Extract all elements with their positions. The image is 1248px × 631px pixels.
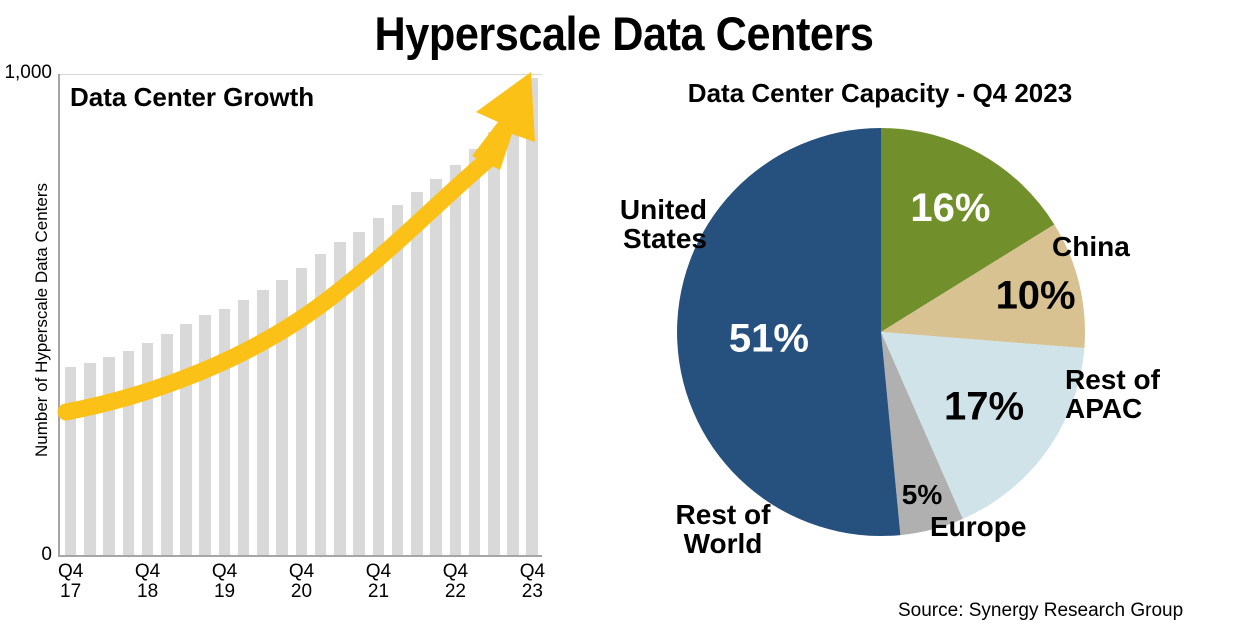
pie-label-rest-of-apac-line2: APAC [1065, 393, 1142, 424]
pie-value-rest-of-world: 5% [902, 479, 943, 510]
pie-label-united-states: United States [567, 195, 707, 254]
x-axis-label-quarter: Q4 [420, 562, 490, 582]
bar [488, 132, 500, 555]
x-axis-label-year: 20 [267, 582, 337, 602]
x-axis-label: Q417 [36, 562, 106, 602]
y-axis-title: Number of Hyperscale Data Centers [32, 110, 52, 530]
pie-label-rest-of-world-line1: Rest of [676, 499, 771, 530]
x-axis-label-quarter: Q4 [497, 562, 567, 582]
pie-label-rest-of-apac-line1: Rest of [1065, 364, 1160, 395]
bar [469, 149, 481, 555]
x-axis-label: Q423 [497, 562, 567, 602]
pie-label-rest-of-apac: Rest of APAC [1065, 365, 1160, 424]
bar [142, 343, 154, 555]
bar [199, 315, 211, 556]
bar-slot [388, 74, 407, 555]
bar-slot [119, 74, 138, 555]
bar-slot [426, 74, 445, 555]
pie-value-united-states: 51% [729, 316, 809, 360]
bar-series [61, 74, 542, 555]
bar [411, 192, 423, 555]
bar-slot [407, 74, 426, 555]
x-axis-label-year: 17 [36, 582, 106, 602]
pie-value-europe: 17% [944, 384, 1024, 428]
pie-label-europe: Europe [930, 512, 1026, 541]
pie-label-united-states-line2: States [623, 223, 707, 254]
bar-slot [61, 74, 80, 555]
x-axis-line [58, 555, 542, 557]
growth-chart-subtitle: Data Center Growth [70, 82, 314, 113]
bar-slot [196, 74, 215, 555]
x-axis-label-year: 22 [420, 582, 490, 602]
bar [276, 280, 288, 555]
x-axis-label-quarter: Q4 [113, 562, 183, 582]
x-axis-label-quarter: Q4 [190, 562, 260, 582]
bar-slot [215, 74, 234, 555]
bar [180, 324, 192, 555]
bar-slot [369, 74, 388, 555]
bar [450, 165, 462, 555]
x-axis-label-quarter: Q4 [343, 562, 413, 582]
bar-slot [503, 74, 522, 555]
pie-label-china: China [1052, 232, 1130, 261]
bar-slot [138, 74, 157, 555]
bar [257, 290, 269, 555]
page-title: Hyperscale Data Centers [50, 6, 1198, 61]
bar [123, 351, 135, 555]
bar [353, 232, 365, 555]
bar [334, 242, 346, 555]
bar [296, 268, 308, 555]
y-axis-tick-top: 1,000 [4, 62, 52, 84]
bar-slot [311, 74, 330, 555]
bar [526, 78, 538, 555]
bar [392, 205, 404, 555]
bar-slot [446, 74, 465, 555]
x-axis-label: Q418 [113, 562, 183, 602]
bar [103, 357, 115, 555]
growth-chart-panel: 1,000 0 Number of Hyperscale Data Center… [0, 60, 600, 631]
bar [373, 218, 385, 555]
bar-slot [273, 74, 292, 555]
bar [161, 334, 173, 555]
x-axis-label-quarter: Q4 [36, 562, 106, 582]
x-axis-label: Q419 [190, 562, 260, 602]
pie-label-united-states-line1: United [620, 194, 707, 225]
bar-slot [465, 74, 484, 555]
bar-slot [80, 74, 99, 555]
growth-plot-area [58, 74, 542, 556]
bar-slot [234, 74, 253, 555]
bar [84, 363, 96, 555]
x-axis-label-quarter: Q4 [267, 562, 337, 582]
x-axis-label: Q421 [343, 562, 413, 602]
x-axis-label: Q420 [267, 562, 337, 602]
x-axis-label-year: 21 [343, 582, 413, 602]
bar [315, 254, 327, 555]
x-axis-label-year: 23 [497, 582, 567, 602]
bar-slot [523, 74, 542, 555]
source-note: Source: Synergy Research Group [898, 600, 1183, 622]
bar-slot [484, 74, 503, 555]
x-axis-labels: Q417Q418Q419Q420Q421Q422Q423 [58, 562, 542, 618]
infographic-page: Hyperscale Data Centers 1,000 0 Number o… [0, 0, 1248, 631]
pie-value-china: 16% [910, 186, 990, 230]
bar-slot [99, 74, 118, 555]
bar [219, 309, 231, 555]
bar [430, 179, 442, 555]
pie-label-rest-of-world-line2: World [684, 528, 763, 559]
bar [507, 110, 519, 555]
pie-label-rest-of-world: Rest of World [658, 500, 788, 559]
x-axis-label: Q422 [420, 562, 490, 602]
pie-value-rest-of-apac: 10% [996, 274, 1076, 318]
x-axis-label-year: 19 [190, 582, 260, 602]
x-axis-label-year: 18 [113, 582, 183, 602]
bar-slot [176, 74, 195, 555]
y-axis-line [58, 74, 60, 556]
bar-slot [330, 74, 349, 555]
bar-slot [350, 74, 369, 555]
bar [65, 367, 77, 555]
bar-slot [157, 74, 176, 555]
bar [238, 300, 250, 555]
pie-chart-panel: Data Center Capacity - Q4 2023 16%10%17%… [600, 60, 1248, 631]
bar-slot [292, 74, 311, 555]
bar-slot [253, 74, 272, 555]
